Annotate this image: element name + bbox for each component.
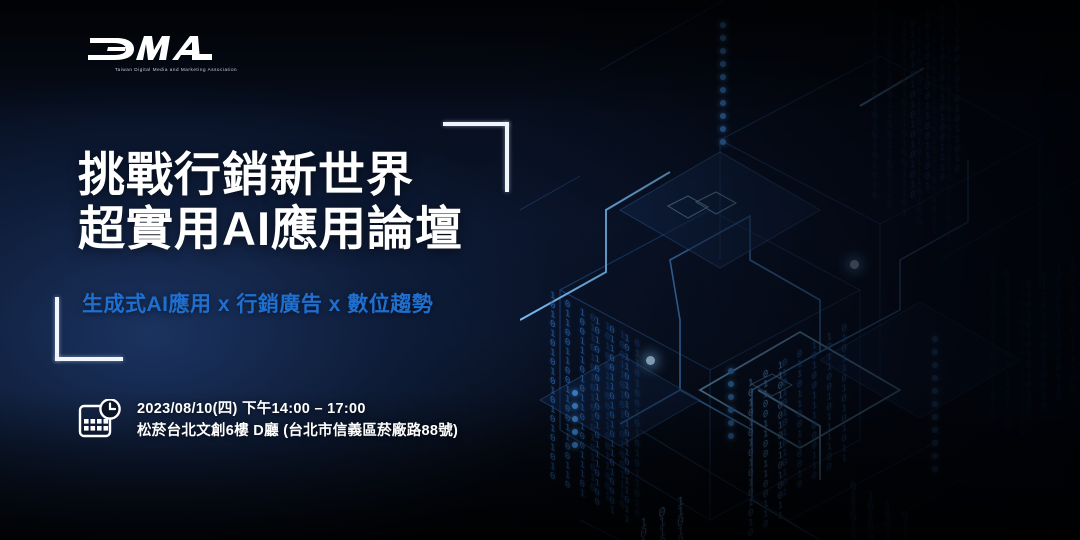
subtitle: 生成式AI應用 x 行銷廣告 x 數位趨勢 — [82, 288, 433, 318]
headline: 挑戰行銷新世界 超實用AI應用論壇 — [78, 148, 463, 256]
right-darken-overlay — [518, 0, 1080, 540]
event-datetime: 2023/08/10(四) 下午14:00 – 17:00 — [137, 398, 458, 420]
event-banner: 1 0 1 1 0 1 0 1 0 0 1 0 1 1 0 1 1 1 0 0 … — [0, 0, 1080, 540]
event-venue: 松菸台北文創6樓 D廳 (台北市信義區菸廠路88號) — [137, 420, 458, 442]
event-info-row: 2023/08/10(四) 下午14:00 – 17:00 松菸台北文創6樓 D… — [78, 398, 458, 442]
headline-line-2: 超實用AI應用論壇 — [78, 202, 463, 256]
headline-line-1: 挑戰行銷新世界 — [78, 148, 463, 202]
event-details: 2023/08/10(四) 下午14:00 – 17:00 松菸台北文創6樓 D… — [137, 398, 458, 442]
logo-tagline: Taiwan Digital Media and Marketing Assoc… — [86, 67, 266, 72]
dma-logo[interactable]: Taiwan Digital Media and Marketing Assoc… — [86, 30, 266, 72]
calendar-clock-icon — [78, 399, 122, 441]
dma-wordmark-icon — [86, 30, 214, 64]
